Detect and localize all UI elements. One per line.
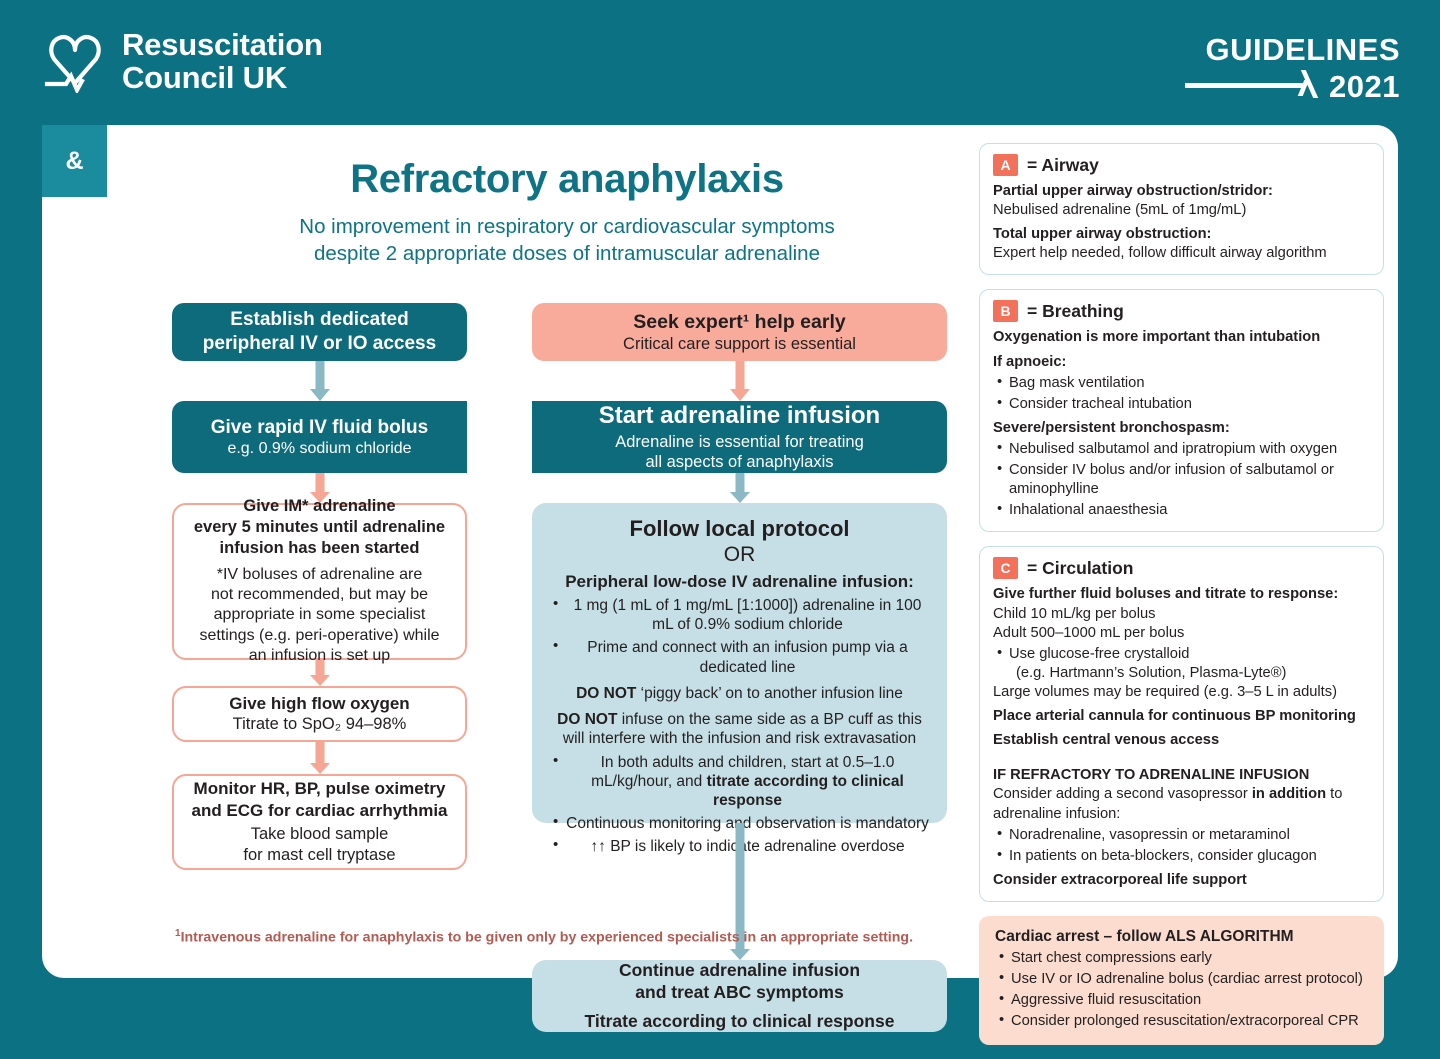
im-body-3: appropriate in some specialist bbox=[199, 605, 439, 625]
list-item: Use IV or IO adrenaline bolus (cardiac a… bbox=[995, 970, 1370, 989]
refractory-pre: Consider adding a second vasopressor bbox=[993, 786, 1252, 802]
circulation-crystalloid-list: Use glucose-free crystalloid(e.g. Hartma… bbox=[993, 645, 1370, 683]
list-item: Consider tracheal intubation bbox=[993, 395, 1370, 414]
circulation-large-volumes: Large volumes may be required (e.g. 3–5 … bbox=[993, 683, 1370, 702]
panel-circulation: C = Circulation Give further fluid bolus… bbox=[979, 546, 1384, 902]
footnote: 1Intravenous adrenaline for anaphylaxis … bbox=[175, 928, 975, 946]
panel-breathing: B = Breathing Oxygenation is more import… bbox=[979, 289, 1384, 532]
guidelines-rule bbox=[1185, 83, 1303, 88]
cardiac-arrest-title: Cardiac arrest – follow ALS ALGORITHM bbox=[995, 927, 1370, 947]
flow-box-monitor-observations: Monitor HR, BP, pulse oximetry and ECG f… bbox=[172, 774, 467, 870]
continue-line-1: Continue adrenaline infusion bbox=[619, 960, 860, 982]
protocol-or: OR bbox=[550, 543, 929, 567]
guidelines-year: 2021 bbox=[1329, 71, 1400, 102]
breathing-title: = Breathing bbox=[1027, 301, 1124, 322]
panel-cardiac-arrest: Cardiac arrest – follow ALS ALGORITHM St… bbox=[979, 916, 1384, 1045]
list-item: Inhalational anaesthesia bbox=[993, 501, 1370, 520]
list-item: In both adults and children, start at 0.… bbox=[550, 753, 929, 811]
protocol-top-bullets: 1 mg (1 mL of 1 mg/mL [1:1000]) adrenali… bbox=[550, 596, 929, 677]
list-item: Noradrenaline, vasopressin or metaramino… bbox=[993, 826, 1370, 845]
list-item: Nebulised salbutamol and ipratropium wit… bbox=[993, 440, 1370, 459]
im-head-2: every 5 minutes until adrenaline bbox=[194, 517, 445, 538]
fluid-title: Give rapid IV fluid bolus bbox=[211, 417, 428, 439]
circulation-header: C = Circulation bbox=[993, 557, 1370, 579]
list-item: In patients on beta-blockers, consider g… bbox=[993, 847, 1370, 866]
guidelines-year-row: 2021 bbox=[1185, 71, 1400, 102]
logo-text: Resuscitation Council UK bbox=[122, 28, 323, 95]
list-item: 1 mg (1 mL of 1 mg/mL [1:1000]) adrenali… bbox=[550, 596, 929, 634]
im-head-3: infusion has been started bbox=[194, 538, 445, 559]
monitor-head-1: Monitor HR, BP, pulse oximetry bbox=[191, 778, 447, 800]
protocol-title: Follow local protocol bbox=[550, 516, 929, 542]
do-not-1-text: ‘piggy back’ on to another infusion line bbox=[636, 685, 903, 702]
titrate-bold: titrate according to clinical response bbox=[707, 773, 904, 809]
im-head-1: Give IM* adrenaline bbox=[194, 496, 445, 517]
guidelines-word: GUIDELINES bbox=[1185, 34, 1400, 65]
circulation-title: = Circulation bbox=[1027, 558, 1133, 579]
airway-total-head: Total upper airway obstruction: bbox=[993, 225, 1370, 244]
breathing-header: B = Breathing bbox=[993, 300, 1370, 322]
circulation-bolus-head: Give further fluid boluses and titrate t… bbox=[993, 585, 1370, 604]
and-connector: & bbox=[42, 125, 107, 197]
start-infusion-sub-2: all aspects of anaphylaxis bbox=[615, 452, 864, 472]
circulation-ecls: Consider extracorporeal life support bbox=[993, 871, 1370, 890]
protocol-subhead: Peripheral low-dose IV adrenaline infusi… bbox=[550, 572, 929, 592]
seek-title: Seek expert¹ help early bbox=[633, 311, 845, 334]
list-item: Prime and connect with an infusion pump … bbox=[550, 638, 929, 676]
breathing-apnoeic-list: Bag mask ventilation Consider tracheal i… bbox=[993, 374, 1370, 414]
establish-line-1: Establish dedicated bbox=[203, 308, 436, 332]
arrow-establish-to-fluid bbox=[302, 361, 338, 401]
airway-title: = Airway bbox=[1027, 155, 1099, 176]
list-item: Use glucose-free crystalloid(e.g. Hartma… bbox=[993, 645, 1370, 683]
arrow-start-to-protocol bbox=[722, 473, 758, 503]
breathing-broncho-head: Severe/persistent bronchospasm: bbox=[993, 419, 1370, 438]
spacer bbox=[993, 750, 1370, 761]
circulation-central-access: Establish central venous access bbox=[993, 731, 1370, 750]
start-infusion-title: Start adrenaline infusion bbox=[599, 402, 880, 430]
flow-box-continue-infusion: Continue adrenaline infusion and treat A… bbox=[532, 960, 947, 1032]
page-title: Refractory anaphylaxis bbox=[172, 157, 962, 202]
flow-box-establish-access: Establish dedicated peripheral IV or IO … bbox=[172, 303, 467, 361]
airway-badge-icon: A bbox=[993, 154, 1018, 176]
seek-sub: Critical care support is essential bbox=[623, 335, 856, 354]
org-line-1: Resuscitation bbox=[122, 28, 323, 61]
circulation-refractory-body: Consider adding a second vasopressor in … bbox=[993, 785, 1370, 823]
circulation-child-dose: Child 10 mL/kg per bolus bbox=[993, 605, 1370, 624]
flow-box-im-adrenaline: Give IM* adrenaline every 5 minutes unti… bbox=[172, 503, 467, 660]
flow-box-seek-expert-help: Seek expert¹ help early Critical care su… bbox=[532, 303, 947, 361]
checkmark-icon bbox=[1301, 76, 1327, 98]
heart-ecg-icon bbox=[44, 29, 106, 93]
fluid-sub: e.g. 0.9% sodium chloride bbox=[227, 440, 411, 458]
flow-box-high-flow-oxygen: Give high flow oxygen Titrate to SpO₂ 94… bbox=[172, 686, 467, 742]
crystalloid-line-2: (e.g. Hartmann’s Solution, Plasma-Lyte®) bbox=[1009, 664, 1370, 683]
airway-partial-body: Nebulised adrenaline (5mL of 1mg/mL) bbox=[993, 201, 1370, 220]
circulation-vasopressor-list: Noradrenaline, vasopressin or metaramino… bbox=[993, 826, 1370, 866]
list-item: Start chest compressions early bbox=[995, 949, 1370, 968]
breathing-broncho-list: Nebulised salbutamol and ipratropium wit… bbox=[993, 440, 1370, 520]
footnote-text: Intravenous adrenaline for anaphylaxis t… bbox=[181, 930, 913, 946]
arrow-oxygen-to-monitor bbox=[302, 742, 338, 774]
monitor-body-2: for mast cell tryptase bbox=[243, 845, 395, 866]
oxygen-head: Give high flow oxygen bbox=[229, 694, 409, 714]
poster-body: Refractory anaphylaxis No improvement in… bbox=[42, 125, 1398, 978]
list-item: Consider IV bolus and/or infusion of sal… bbox=[993, 461, 1370, 499]
crystalloid-line-1: Use glucose-free crystalloid bbox=[1009, 646, 1189, 662]
do-not-2-text: infuse on the same side as a BP cuff as … bbox=[563, 711, 922, 747]
list-item: Bag mask ventilation bbox=[993, 374, 1370, 393]
airway-header: A = Airway bbox=[993, 154, 1370, 176]
im-body-4: settings (e.g. peri-operative) while bbox=[199, 626, 439, 646]
protocol-do-not-2: DO NOT infuse on the same side as a BP c… bbox=[550, 710, 929, 748]
page-subtitle: No improvement in respiratory or cardiov… bbox=[172, 213, 962, 268]
continue-line-3: Titrate according to clinical response bbox=[585, 1011, 895, 1032]
circulation-adult-dose: Adult 500–1000 mL per bolus bbox=[993, 624, 1370, 643]
list-item: Aggressive fluid resuscitation bbox=[995, 991, 1370, 1010]
airway-total-body: Expert help needed, follow difficult air… bbox=[993, 244, 1370, 263]
flow-box-local-protocol: Follow local protocol OR Peripheral low-… bbox=[532, 503, 947, 823]
do-not-label: DO NOT bbox=[557, 711, 617, 728]
im-body-2: not recommended, but may be bbox=[199, 585, 439, 605]
guidelines-badge: GUIDELINES 2021 bbox=[1185, 34, 1400, 102]
abc-panel-column: A = Airway Partial upper airway obstruct… bbox=[979, 143, 1384, 1059]
establish-line-2: peripheral IV or IO access bbox=[203, 332, 436, 356]
protocol-do-not-1: DO NOT ‘piggy back’ on to another infusi… bbox=[550, 684, 929, 703]
arrow-seek-to-start-infusion bbox=[722, 361, 758, 401]
subtitle-line-1: No improvement in respiratory or cardiov… bbox=[172, 213, 962, 240]
cardiac-arrest-list: Start chest compressions early Use IV or… bbox=[995, 949, 1370, 1031]
list-item: Consider prolonged resuscitation/extraco… bbox=[995, 1012, 1370, 1031]
breathing-apnoeic-head: If apnoeic: bbox=[993, 353, 1370, 372]
subtitle-line-2: despite 2 appropriate doses of intramusc… bbox=[172, 240, 962, 267]
circulation-badge-icon: C bbox=[993, 557, 1018, 579]
continue-line-2: and treat ABC symptoms bbox=[619, 982, 860, 1004]
do-not-label: DO NOT bbox=[576, 685, 636, 702]
breathing-badge-icon: B bbox=[993, 300, 1018, 322]
im-body-1: *IV boluses of adrenaline are bbox=[199, 565, 439, 585]
monitor-head-2: and ECG for cardiac arrhythmia bbox=[191, 800, 447, 822]
circulation-refractory-head: IF REFRACTORY TO ADRENALINE INFUSION bbox=[993, 766, 1370, 785]
breathing-lead: Oxygenation is more important than intub… bbox=[993, 328, 1370, 347]
start-infusion-sub-1: Adrenaline is essential for treating bbox=[615, 432, 864, 452]
org-line-2: Council UK bbox=[122, 61, 323, 94]
circulation-arterial-cannula: Place arterial cannula for continuous BP… bbox=[993, 707, 1370, 726]
flow-box-start-adrenaline-infusion: Start adrenaline infusion Adrenaline is … bbox=[532, 401, 947, 473]
monitor-body-1: Take blood sample bbox=[243, 824, 395, 845]
page-header: Resuscitation Council UK GUIDELINES 2021 bbox=[0, 0, 1440, 120]
rcuk-logo: Resuscitation Council UK bbox=[44, 28, 323, 95]
arrow-im-to-oxygen bbox=[302, 660, 338, 686]
oxygen-body: Titrate to SpO₂ 94–98% bbox=[233, 715, 407, 734]
airway-partial-head: Partial upper airway obstruction/stridor… bbox=[993, 182, 1370, 201]
refractory-bold: in addition bbox=[1252, 786, 1326, 802]
panel-airway: A = Airway Partial upper airway obstruct… bbox=[979, 143, 1384, 275]
flow-box-give-fluid-bolus: Give rapid IV fluid bolus e.g. 0.9% sodi… bbox=[172, 401, 467, 473]
